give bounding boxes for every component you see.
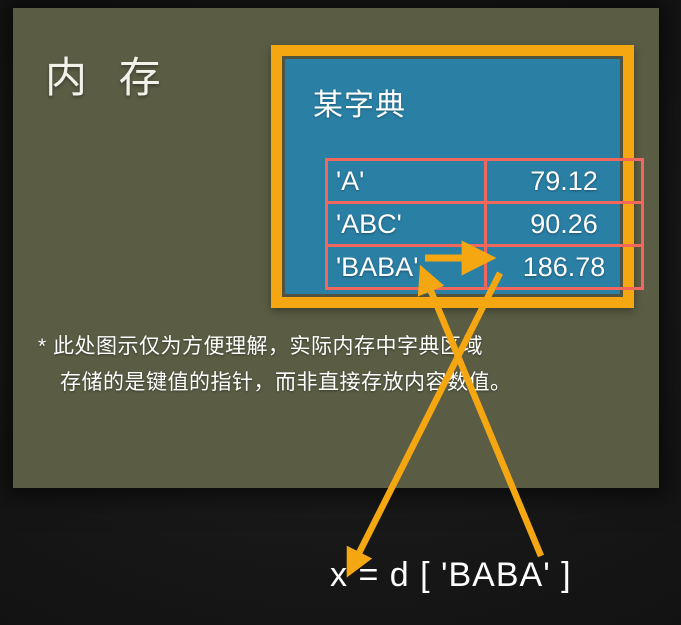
dictionary-table: 'A' 79.12 'ABC' 90.26 'BABA' 186.78 [325,158,644,290]
page-title: 内 存 [45,57,171,99]
table-row: 'A' 79.12 [327,160,643,203]
dictionary-label: 某字典 [313,91,406,121]
slide-canvas: 内 存 某字典 'A' 79.12 'ABC' 90.26 [0,0,681,625]
footnote: * 此处图示仅为方便理解，实际内存中字典区域 存储的是键值的指针，而非直接存放内… [38,329,638,401]
table-cell-value: 186.78 [486,246,643,289]
table-cell-key: 'A' [327,160,486,203]
dictionary-box-inner-gap: 某字典 'A' 79.12 'ABC' 90.26 'BABA' [282,56,623,297]
dictionary-box: 某字典 'A' 79.12 'ABC' 90.26 'BABA' [271,45,634,308]
table-cell-key: 'ABC' [327,203,486,246]
table-row: 'BABA' 186.78 [327,246,643,289]
table-cell-value: 79.12 [486,160,643,203]
table-cell-value: 90.26 [486,203,643,246]
code-expression: x = d [ 'BABA' ] [330,558,572,592]
dictionary-box-body: 某字典 'A' 79.12 'ABC' 90.26 'BABA' [285,59,620,294]
footnote-line-1: * 此处图示仅为方便理解，实际内存中字典区域 [38,335,483,358]
table-row: 'ABC' 90.26 [327,203,643,246]
footnote-line-2: 存储的是键值的指针，而非直接存放内容数值。 [38,365,638,401]
table-cell-key: 'BABA' [327,246,486,289]
